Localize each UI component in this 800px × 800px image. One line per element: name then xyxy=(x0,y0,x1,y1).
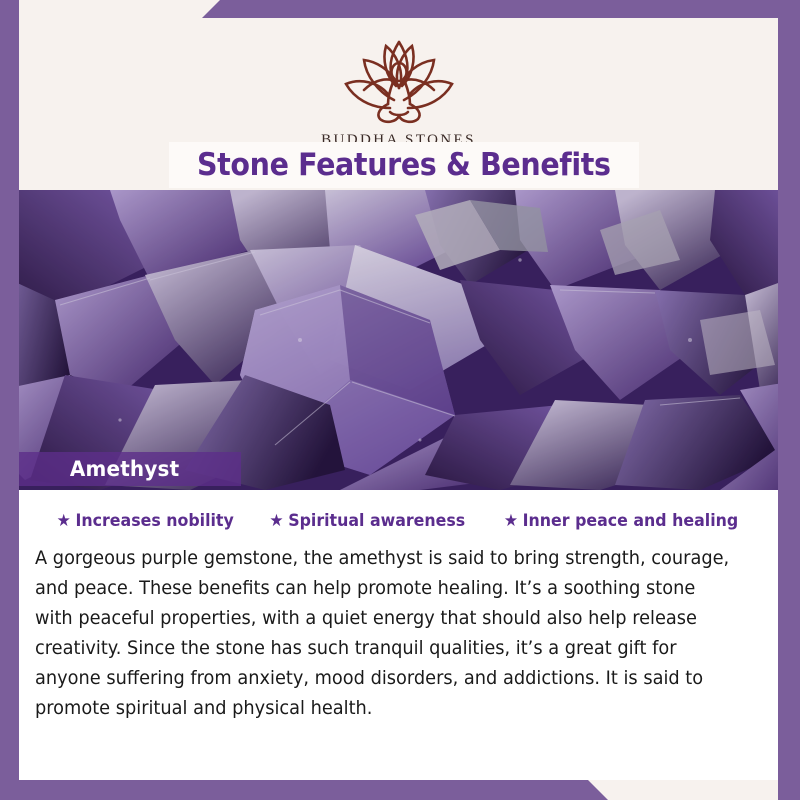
brand-logo: BUDDHA STONES xyxy=(19,30,778,149)
stone-description: A gorgeous purple gemstone, the amethyst… xyxy=(35,544,729,724)
star-icon: ★ xyxy=(504,513,518,530)
benefit-item-2: ★ Spiritual awareness xyxy=(270,511,466,531)
stone-features-poster: Amethyst xyxy=(0,0,800,800)
benefit-label: Increases nobility xyxy=(75,511,233,531)
benefit-label: Inner peace and healing xyxy=(523,511,739,531)
star-icon: ★ xyxy=(57,513,71,530)
benefit-item-1: ★ Increases nobility xyxy=(57,511,234,531)
frame-right-border xyxy=(778,0,800,800)
stone-name-banner: Amethyst xyxy=(19,452,241,486)
lotus-meditation-icon xyxy=(324,30,474,130)
benefit-item-3: ★ Inner peace and healing xyxy=(504,511,738,531)
stone-name-label: Amethyst xyxy=(70,457,179,481)
frame-left-border xyxy=(0,0,19,800)
page-title: Stone Features & Benefits xyxy=(197,147,611,183)
stone-content: ★ Increases nobility ★ Spiritual awarene… xyxy=(19,490,778,780)
benefits-list: ★ Increases nobility ★ Spiritual awarene… xyxy=(19,490,778,531)
frame-top-border xyxy=(0,0,800,18)
star-icon: ★ xyxy=(270,513,284,530)
poster-header: BUDDHA STONES Stone Features & Benefits xyxy=(19,18,778,190)
amethyst-photo xyxy=(0,190,800,490)
amethyst-crystal-illustration xyxy=(0,190,800,490)
benefit-label: Spiritual awareness xyxy=(289,511,466,531)
page-title-band: Stone Features & Benefits xyxy=(169,142,639,188)
frame-bottom-border xyxy=(0,780,800,800)
